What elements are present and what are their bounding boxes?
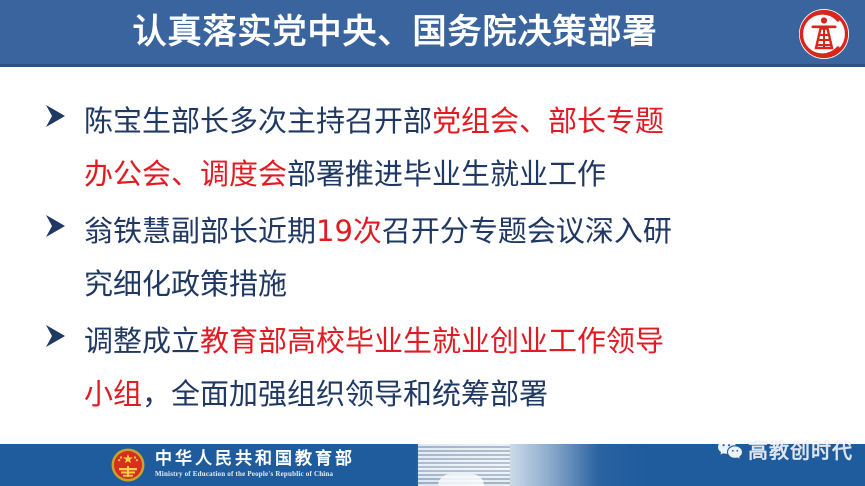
- slide-title-bar: 认真落实党中央、国务院决策部署: [0, 0, 865, 67]
- bullet-run: 究细化政策措施: [84, 267, 287, 301]
- bullet-line: 调整成立教育部高校毕业生就业创业工作领导: [84, 315, 836, 368]
- bullet-line: 小组，全面加强组织领导和统筹部署: [84, 368, 836, 421]
- bullet-run: ，全面加强组织领导和统筹部署: [142, 377, 548, 411]
- bullet-run: 召开分专题会议深入研: [382, 214, 672, 248]
- page-title: 认真落实党中央、国务院决策部署: [0, 0, 790, 64]
- bullet-line: 究细化政策措施: [84, 258, 836, 311]
- bullet-line: 办公会、调度会部署推进毕业生就业工作: [84, 148, 836, 201]
- bullet-item: 翁铁慧副部长近期19次召开分专题会议深入研 究细化政策措施: [36, 205, 836, 311]
- bullet-run-highlight: 党组会、部长专题: [432, 104, 664, 138]
- bullet-item: 调整成立教育部高校毕业生就业创业工作领导 小组，全面加强组织领导和统筹部署: [36, 315, 836, 421]
- bullet-run: 部署推进毕业生就业工作: [287, 157, 606, 191]
- bullet-arrow-icon: [40, 319, 70, 353]
- bullet-run: 调整成立: [84, 324, 200, 358]
- national-emblem-icon: [110, 447, 146, 483]
- bullet-run-highlight: 办公会、调度会: [84, 157, 287, 191]
- bullet-run-highlight: 教育部高校毕业生就业创业工作领导: [200, 324, 664, 358]
- bullet-run-highlight: 小组: [84, 377, 142, 411]
- bullet-line: 陈宝生部长多次主持召开部党组会、部长专题: [84, 95, 836, 148]
- bullet-list: 陈宝生部长多次主持召开部党组会、部长专题 办公会、调度会部署推进毕业生就业工作 …: [36, 95, 836, 425]
- bullet-run: 陈宝生部长多次主持召开部: [84, 104, 432, 138]
- presentation-slide: 认真落实党中央、国务院决策部署: [0, 0, 865, 486]
- bullet-line: 翁铁慧副部长近期19次召开分专题会议深入研: [84, 205, 836, 258]
- ministry-name-cn: 中华人民共和国教育部: [155, 449, 415, 469]
- bullet-arrow-icon: [40, 99, 70, 133]
- watermark-label: 高教创时代: [748, 435, 853, 464]
- wechat-watermark: 高教创时代: [717, 435, 853, 464]
- slide-body: 陈宝生部长多次主持召开部党组会、部长专题 办公会、调度会部署推进毕业生就业工作 …: [0, 67, 865, 444]
- ministry-name-block: 中华人民共和国教育部 Ministry of Education of the …: [155, 449, 415, 479]
- moe-circular-emblem-icon: [797, 7, 851, 61]
- ministry-name-en: Ministry of Education of the People's Re…: [155, 469, 415, 479]
- bullet-item: 陈宝生部长多次主持召开部党组会、部长专题 办公会、调度会部署推进毕业生就业工作: [36, 95, 836, 201]
- ministry-building-photo: [418, 444, 510, 486]
- wechat-icon: [717, 439, 743, 461]
- bullet-run-highlight: 19次: [316, 214, 382, 248]
- bullet-run: 翁铁慧副部长近期: [84, 214, 316, 248]
- bullet-arrow-icon: [40, 209, 70, 243]
